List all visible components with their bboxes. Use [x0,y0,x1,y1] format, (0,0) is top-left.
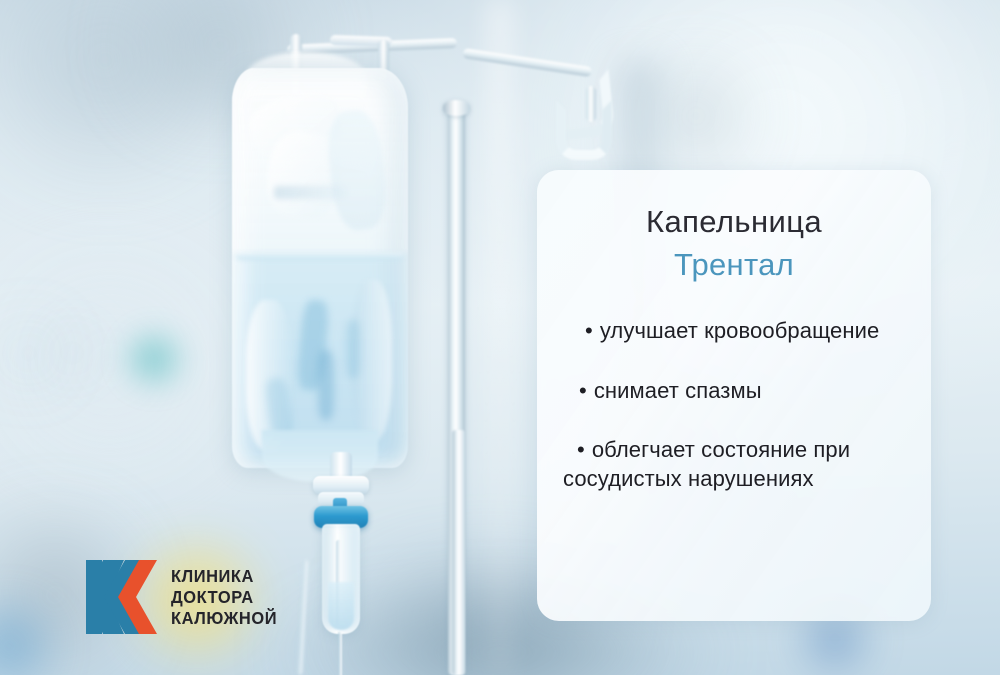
benefit-item-2: •снимает спазмы [563,377,905,406]
iv-bag-bottom-taper [262,430,378,482]
iv-bag-embossed-text [274,186,346,199]
benefit-item-3-text: облегчает состояние при сосудистых наруш… [563,437,850,491]
iv-bag-fluid-level [236,252,404,260]
card-title: Капельница [559,204,909,241]
benefit-item-2-text: снимает спазмы [594,378,762,403]
card-subtitle-drug-name: Трентал [559,247,909,284]
clinic-logo-line-3: КАЛЮЖНОЙ [171,608,277,629]
iv-pole-right-hook-u [556,100,612,160]
promo-banner: Капельница Трентал •улучшает кровообраще… [0,0,1000,675]
double-chevron-k-mark-icon [84,558,158,636]
iv-bag-blue-tint-2 [318,350,334,420]
drip-chamber-fluid [328,582,354,630]
iv-tubing [338,632,342,675]
bg-blur-teal-object [118,326,190,392]
bullet-dot-icon: • [579,378,587,403]
benefit-item-1-text: улучшает кровообращение [600,318,880,343]
bg-blur-vertical-strip [487,0,513,675]
clinic-logo[interactable]: КЛИНИКА ДОКТОРА КАЛЮЖНОЙ [84,558,284,636]
bg-blur-lightbox-left [6,330,52,376]
bullet-dot-icon: • [577,437,585,462]
iv-pole-shaft-lower [452,430,465,675]
clinic-logo-line-1: КЛИНИКА [171,566,277,587]
info-card-content: Капельница Трентал •улучшает кровообраще… [537,170,931,621]
info-card: Капельница Трентал •улучшает кровообраще… [537,170,931,621]
iv-pole-right-hook-tip [586,86,596,122]
benefit-item-1: •улучшает кровообращение [563,317,905,346]
benefits-list: •улучшает кровообращение •снимает спазмы… [559,317,909,493]
iv-pole-collar [443,100,470,116]
clinic-logo-text: КЛИНИКА ДОКТОРА КАЛЮЖНОЙ [171,566,277,629]
benefit-item-3: •облегчает состояние при сосудистых нару… [563,436,905,493]
bullet-dot-icon: • [585,318,593,343]
clinic-logo-line-2: ДОКТОРА [171,587,277,608]
bg-blur-lightbox-right [52,332,92,374]
iv-bag-blue-tint-4 [346,320,360,378]
